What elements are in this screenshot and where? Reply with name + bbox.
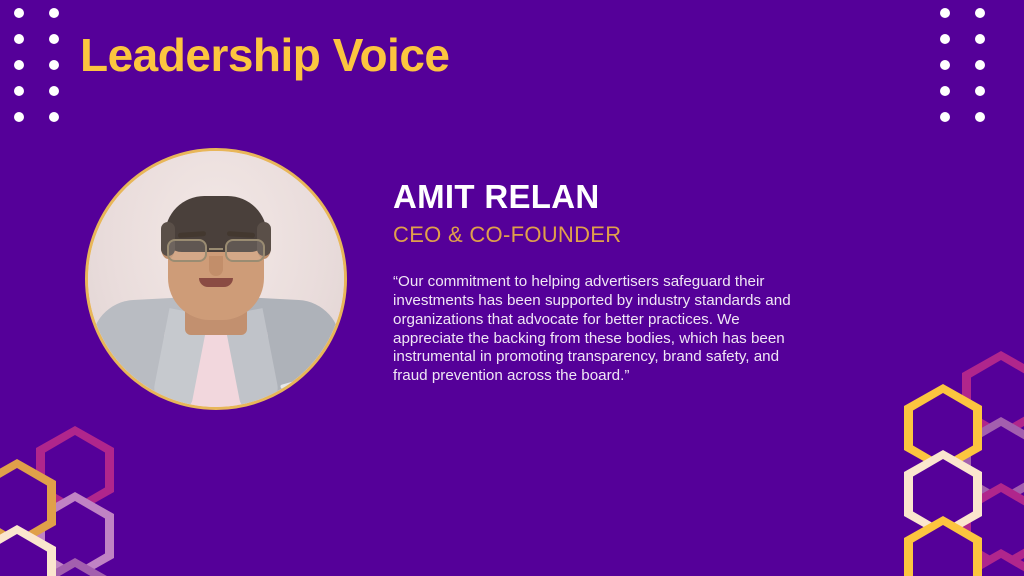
glasses-bridge xyxy=(209,248,223,250)
dot xyxy=(49,60,59,70)
dot xyxy=(940,34,950,44)
page-title: Leadership Voice xyxy=(80,30,450,81)
dot xyxy=(975,60,985,70)
dot xyxy=(14,112,24,122)
dot xyxy=(14,60,24,70)
nose-shape xyxy=(209,256,223,276)
dot xyxy=(975,8,985,18)
dot xyxy=(975,86,985,96)
speaker-photo xyxy=(88,151,344,407)
dot xyxy=(49,112,59,122)
dot xyxy=(940,112,950,122)
dot xyxy=(975,112,985,122)
speaker-quote: “Our commitment to helping advertisers s… xyxy=(393,273,813,386)
dot-grid-right xyxy=(940,8,1010,138)
dot-grid-left xyxy=(14,8,84,138)
lens-left xyxy=(167,239,207,262)
dot xyxy=(14,8,24,18)
dot xyxy=(940,86,950,96)
hexagon-cluster-bottom-right xyxy=(894,376,1024,576)
speaker-name: AMIT RELAN xyxy=(393,178,599,216)
dot xyxy=(940,60,950,70)
dot xyxy=(14,34,24,44)
dot xyxy=(49,8,59,18)
speaker-avatar xyxy=(85,148,347,410)
mouth-shape xyxy=(199,278,233,287)
slide-canvas: Leadership Voice AMIT RELAN xyxy=(0,0,1024,576)
lens-right xyxy=(225,239,265,262)
dot xyxy=(49,34,59,44)
dot xyxy=(14,86,24,96)
dot xyxy=(975,34,985,44)
dot xyxy=(940,8,950,18)
hexagon-cluster-bottom-left xyxy=(0,441,135,576)
dot xyxy=(49,86,59,96)
speaker-role: CEO & CO-FOUNDER xyxy=(393,222,621,248)
